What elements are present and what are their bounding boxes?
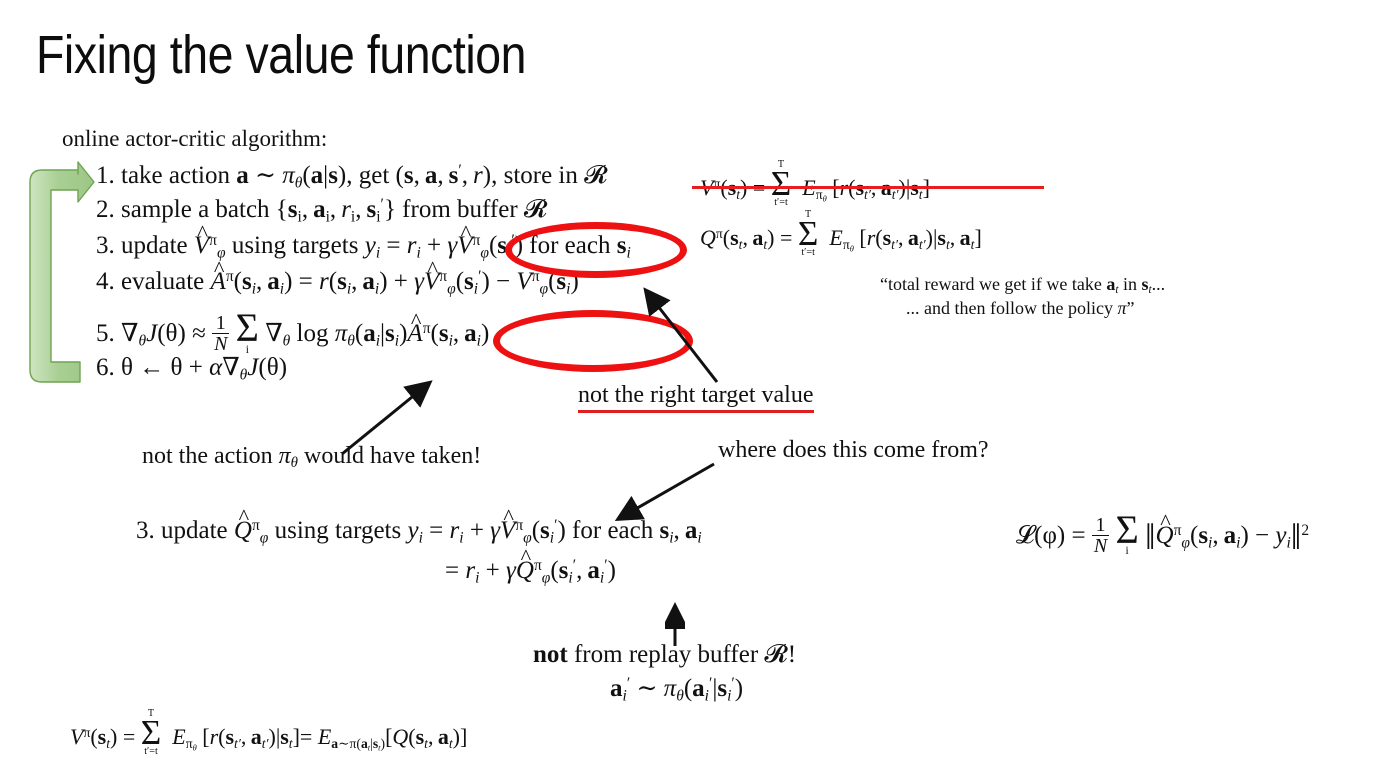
slide-canvas: Fixing the value function online actor-c… — [0, 0, 1396, 763]
step-number: 6. — [96, 354, 115, 381]
q-quote-line-1: “total reward we get if we take at in st… — [880, 274, 1165, 297]
bottom-step-3-line-2: = ri + γQ^πφ(si′, ai′) — [445, 556, 616, 588]
not-bold-word: not — [533, 641, 568, 668]
algorithm-step-4: 4. evaluate A^π(si, ai) = r(si, ai) + γV… — [96, 268, 579, 298]
v-equation: Vπ(st) = ΣTt′=t Eπθ [r(st′, at′)|st] — [700, 163, 930, 205]
sampling-equation: ai′ ∼ πθ(ai′|si′) — [610, 674, 743, 706]
strikethrough-line — [692, 186, 1044, 189]
bottom-step-3: 3. update Q^πφ using targets yi = ri + γ… — [136, 516, 702, 548]
algorithm-step-2: 2. sample a batch {si, ai, ri, si′} from… — [96, 196, 547, 226]
arrow-to-target-ellipse — [625, 278, 735, 390]
step-body: evaluate A^π(si, ai) = r(si, ai) + γV^πφ… — [121, 268, 579, 295]
annotation-where-from: where does this come from? — [718, 437, 989, 464]
loss-function: 𝓛(φ) = 1N Σi ‖Q^πφ(si, ai) − yi‖2 — [1016, 506, 1309, 560]
page-title: Fixing the value function — [36, 24, 526, 86]
q-quote-line-2: ... and then follow the policy π” — [906, 298, 1135, 319]
step-body: ∇θJ(θ) ≈ 1N Σi ∇θ log πθ(ai|si)A^π(si, a… — [121, 320, 489, 347]
loop-arrow-icon — [18, 156, 96, 390]
step-body: sample a batch {si, ai, ri, si′} from bu… — [121, 196, 547, 223]
annotation-not-from-replay: not from replay buffer 𝓡! — [533, 640, 796, 670]
bottom-step-body: update Q^πφ using targets yi = ri + γV^π… — [161, 517, 702, 544]
algorithm-step-5: 5. ∇θJ(θ) ≈ 1N Σi ∇θ log πθ(ai|si)A^π(si… — [96, 304, 489, 354]
step-number: 1. — [96, 162, 115, 189]
final-identity-equation: Vπ(st) = ΣTt′=t Eπθ [r(st′, at′)|st]= Ea… — [70, 712, 467, 754]
step-number: 3. — [96, 232, 115, 259]
annotation-not-right-target: not the right target value — [578, 382, 814, 409]
step-number: 4. — [96, 268, 115, 295]
highlight-ellipse-target — [505, 222, 687, 278]
algorithm-step-6: 6. θ ← θ + α∇θJ(θ) — [96, 352, 287, 384]
step-number: 2. — [96, 196, 115, 223]
algorithm-label: online actor-critic algorithm: — [62, 125, 327, 152]
step-number: 5. — [96, 320, 115, 347]
q-equation: Qπ(st, at) = ΣTt′=t Eπθ [r(st′, at′)|st,… — [700, 213, 982, 255]
annotation-not-the-action: not the action πθ would have taken! — [142, 443, 481, 472]
q-equation-body: Qπ(st, at) = ΣTt′=t Eπθ [r(st′, at′)|st,… — [700, 225, 982, 250]
step-body: θ ← θ + α∇θJ(θ) — [121, 354, 287, 381]
algorithm-step-1: 1. take action a ∼ πθ(a|s), get (s, a, s… — [96, 160, 607, 192]
bottom-step-number: 3. — [136, 517, 155, 544]
step-body: take action a ∼ πθ(a|s), get (s, a, s′, … — [121, 162, 607, 189]
